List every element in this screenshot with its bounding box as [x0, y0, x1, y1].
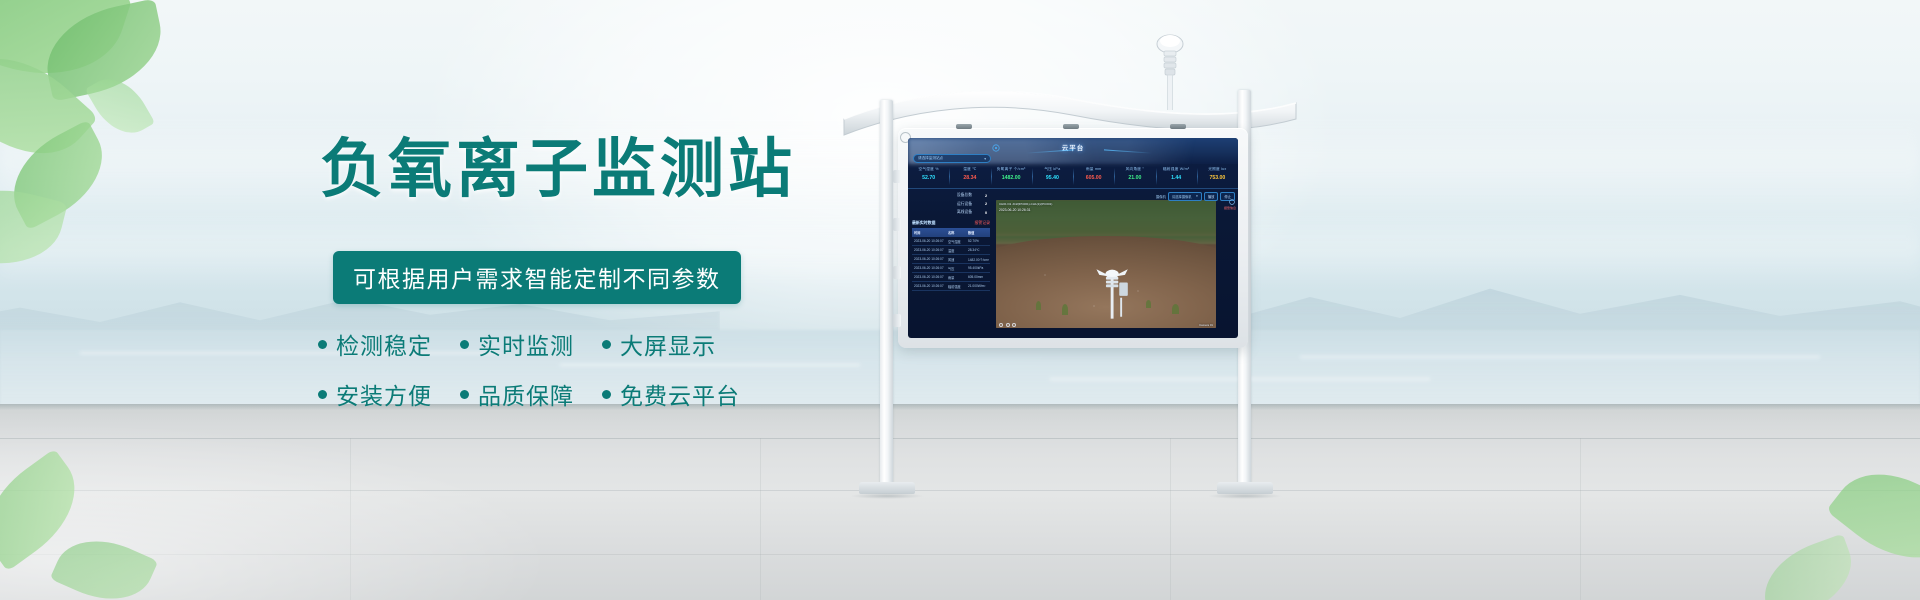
cell-value: 1482.00个/cm³: [968, 257, 990, 262]
video-overlay-time: 2023-06-20 10:26:31: [999, 208, 1030, 212]
cell-name: 温度: [948, 248, 968, 253]
device-stat-label: 运行设备: [957, 202, 972, 207]
cell-value: 52.70%: [968, 239, 990, 243]
monitoring-station-kiosk: 云平台 请选择监测站点 ▾ 空气湿度 % 52.70: [840, 30, 1320, 510]
metric-label: 辐射强度 W/m²: [1156, 167, 1197, 172]
device-stat: 离线设备 0: [912, 210, 990, 215]
chevron-down-icon: ▾: [984, 157, 986, 161]
metric-label: 光照度 lux: [1197, 167, 1238, 172]
alarm-text: 报警信息: [1224, 206, 1236, 210]
metric-label: 风向角度 °: [1114, 167, 1155, 172]
table-row[interactable]: 2023-06-20 10:26:07 风速 1482.00个/cm³: [912, 255, 990, 264]
cell-time: 2023-06-20 10:26:07: [912, 239, 948, 243]
table-row[interactable]: 2023-06-20 10:26:07 温度 28.34℃: [912, 246, 990, 255]
feature-label: 大屏显示: [620, 327, 716, 361]
metric-value: 1.44: [1156, 175, 1197, 181]
hero-banner: 负氧离子监测站 可根据用户需求智能定制不同参数 检测稳定 实时监测 大屏显示: [0, 0, 1920, 600]
cell-name: 空气湿度: [948, 239, 968, 244]
column-header-time: 时间: [912, 230, 948, 235]
cell-name: 风速: [948, 257, 968, 262]
metric-value: 95.40: [1032, 175, 1073, 181]
video-overlay-code: CH01 D1 JCZ(IPC001)-CH1(1)(IPC001): [999, 202, 1052, 206]
camera-video-feed[interactable]: CH01 D1 JCZ(IPC001)-CH1(1)(IPC001) 2023-…: [996, 200, 1216, 328]
metric-value: 21.00: [1114, 175, 1155, 181]
cell-value: 95.400kPa: [968, 266, 990, 270]
log-panel-title: 最新实时数据: [912, 220, 935, 226]
cell-time: 2023-06-20 10:26:07: [912, 275, 948, 279]
cell-time: 2023-06-20 10:26:07: [912, 248, 948, 252]
metric-value: 605.00: [1073, 175, 1114, 181]
bullet-dot-icon: [460, 340, 469, 349]
device-stat-value: 2: [982, 202, 990, 206]
metric-label: 空气湿度 %: [908, 167, 949, 172]
log-table: 时间 名称 数值 2023-06-20 10:26:07 空气湿度 52.70%…: [912, 228, 990, 291]
table-row[interactable]: 2023-06-20 10:26:07 辐射强度 21.000W/m²: [912, 282, 990, 291]
fullscreen-icon[interactable]: [1012, 323, 1016, 327]
play-icon[interactable]: [999, 323, 1003, 327]
cell-time: 2023-06-20 10:26:07: [912, 266, 948, 270]
device-stat-value: 0: [982, 211, 990, 215]
feature-label: 免费云平台: [620, 377, 740, 411]
bullet-dot-icon: [318, 340, 327, 349]
center-emblem-icon: [992, 139, 1000, 147]
metric-label: 雨量 mm: [1073, 167, 1114, 172]
cabinet-hinge: [893, 266, 901, 279]
dashboard-body: 设备总数 2 运行设备 2 离线设备 0 最新实时数据: [908, 190, 1238, 338]
field-weather-station-icon: [1084, 254, 1141, 321]
device-stat-label: 设备总数: [957, 193, 972, 198]
bullet-dot-icon: [602, 340, 611, 349]
video-controls[interactable]: [999, 323, 1016, 327]
list-item: 安装方便: [318, 377, 432, 411]
video-watermark: Camera 01: [1199, 323, 1213, 327]
metric-card[interactable]: 空气湿度 % 52.70: [908, 165, 949, 188]
table-row[interactable]: 2023-06-20 10:26:07 雨量 605.00mm: [912, 273, 990, 282]
video-panel: 摄像机 请选择摄像机 ▾ 播放 停止 报警信息: [994, 190, 1238, 338]
cell-time: 2023-06-20 10:26:07: [912, 257, 948, 261]
log-panel-header: 最新实时数据 报警记录: [912, 220, 990, 226]
cell-value: 21.000W/m²: [968, 284, 990, 288]
metric-card[interactable]: 雨量 mm 605.00: [1073, 165, 1114, 188]
column-header-value: 数值: [968, 230, 990, 235]
feature-row-1: 检测稳定 实时监测 大屏显示: [318, 327, 740, 361]
device-stat-label: 离线设备: [957, 210, 972, 215]
camera-select-value: 请选择摄像机: [1172, 194, 1192, 199]
bullet-dot-icon: [602, 390, 611, 399]
metric-card[interactable]: 温度 ℃ 28.34: [949, 165, 990, 188]
play-button[interactable]: 播放: [1204, 192, 1219, 201]
station-selector[interactable]: 请选择监测站点 ▾: [913, 154, 991, 163]
metric-label: 气压 kPa: [1032, 167, 1073, 172]
video-toolbar-label: 摄像机: [1156, 194, 1166, 199]
cabinet-hinge: [893, 314, 901, 327]
metric-card[interactable]: 气压 kPa 95.40: [1032, 165, 1073, 188]
display-cabinet: 云平台 请选择监测站点 ▾ 空气湿度 % 52.70: [898, 128, 1248, 348]
notification-bell-icon[interactable]: [1229, 192, 1235, 198]
support-post-left: [880, 100, 893, 490]
dashboard-title: 云平台: [908, 142, 1238, 152]
metric-label: 温度 ℃: [949, 167, 990, 172]
metric-value: 1482.00: [991, 175, 1032, 181]
metric-card[interactable]: 风向角度 ° 21.00: [1114, 165, 1155, 188]
device-stat: 设备总数 2: [912, 193, 990, 198]
metrics-strip: 空气湿度 % 52.70 温度 ℃ 28.34 负氧离子 个/cm³ 1482.…: [908, 165, 1238, 189]
camera-select[interactable]: 请选择摄像机 ▾: [1168, 192, 1202, 201]
cell-name: 气压: [948, 266, 968, 271]
cabinet-clip: [1170, 124, 1186, 129]
feature-label: 检测稳定: [336, 327, 432, 361]
chevron-down-icon: ▾: [1196, 194, 1198, 199]
list-item: 免费云平台: [602, 377, 740, 411]
feature-row-2: 安装方便 品质保障 免费云平台: [318, 377, 740, 411]
feature-label: 实时监测: [478, 327, 574, 361]
cabinet-clip: [956, 124, 972, 129]
page-title: 负氧离子监测站: [320, 118, 796, 210]
cell-name: 辐射强度: [948, 284, 968, 289]
post-shadow: [850, 493, 924, 499]
status-badge: 可根据用户需求智能定制不同参数: [333, 251, 741, 304]
cabinet-hinge: [893, 170, 901, 183]
bullet-dot-icon: [460, 390, 469, 399]
cell-value: 605.00mm: [968, 275, 990, 279]
pause-icon[interactable]: [1006, 323, 1010, 327]
cell-time: 2023-06-20 10:26:07: [912, 284, 948, 288]
metric-value: 753.00: [1197, 175, 1238, 181]
feature-list: 检测稳定 实时监测 大屏显示 安装方便 品质保障: [318, 327, 740, 427]
metric-value: 52.70: [908, 175, 949, 181]
table-row[interactable]: 2023-06-20 10:26:07 气压 95.400kPa: [912, 264, 990, 273]
cabinet-hinge: [893, 218, 901, 231]
table-row[interactable]: 2023-06-20 10:26:07 空气湿度 52.70%: [912, 237, 990, 246]
list-item: 检测稳定: [318, 327, 432, 361]
station-selector-value: 请选择监测站点: [918, 156, 943, 161]
alarm-records-link[interactable]: 报警记录: [974, 220, 990, 226]
feature-label: 品质保障: [478, 377, 574, 411]
bullet-dot-icon: [318, 390, 327, 399]
table-header-row: 时间 名称 数值: [912, 228, 990, 237]
list-item: 实时监测: [460, 327, 574, 361]
cell-value: 28.34℃: [968, 248, 990, 252]
metric-label: 负氧离子 个/cm³: [991, 167, 1032, 172]
device-stat: 运行设备 2: [912, 202, 990, 207]
dashboard-sidebar: 设备总数 2 运行设备 2 离线设备 0 最新实时数据: [908, 190, 994, 338]
metric-value: 28.34: [949, 175, 990, 181]
metric-card[interactable]: 负氧离子 个/cm³ 1482.00: [991, 165, 1032, 188]
column-header-name: 名称: [948, 230, 968, 235]
metric-card[interactable]: 辐射强度 W/m² 1.44: [1156, 165, 1197, 188]
list-item: 品质保障: [460, 377, 574, 411]
list-item: 大屏显示: [602, 327, 716, 361]
feature-label: 安装方便: [336, 377, 432, 411]
cell-name: 雨量: [948, 275, 968, 280]
post-shadow: [1208, 493, 1282, 499]
metric-card[interactable]: 光照度 lux 753.00: [1197, 165, 1238, 188]
dashboard-screen[interactable]: 云平台 请选择监测站点 ▾ 空气湿度 % 52.70: [908, 138, 1238, 338]
video-toolbar: 摄像机 请选择摄像机 ▾ 播放 停止: [1156, 192, 1235, 201]
cabinet-clip: [1063, 124, 1079, 129]
device-stat-value: 2: [982, 194, 990, 198]
